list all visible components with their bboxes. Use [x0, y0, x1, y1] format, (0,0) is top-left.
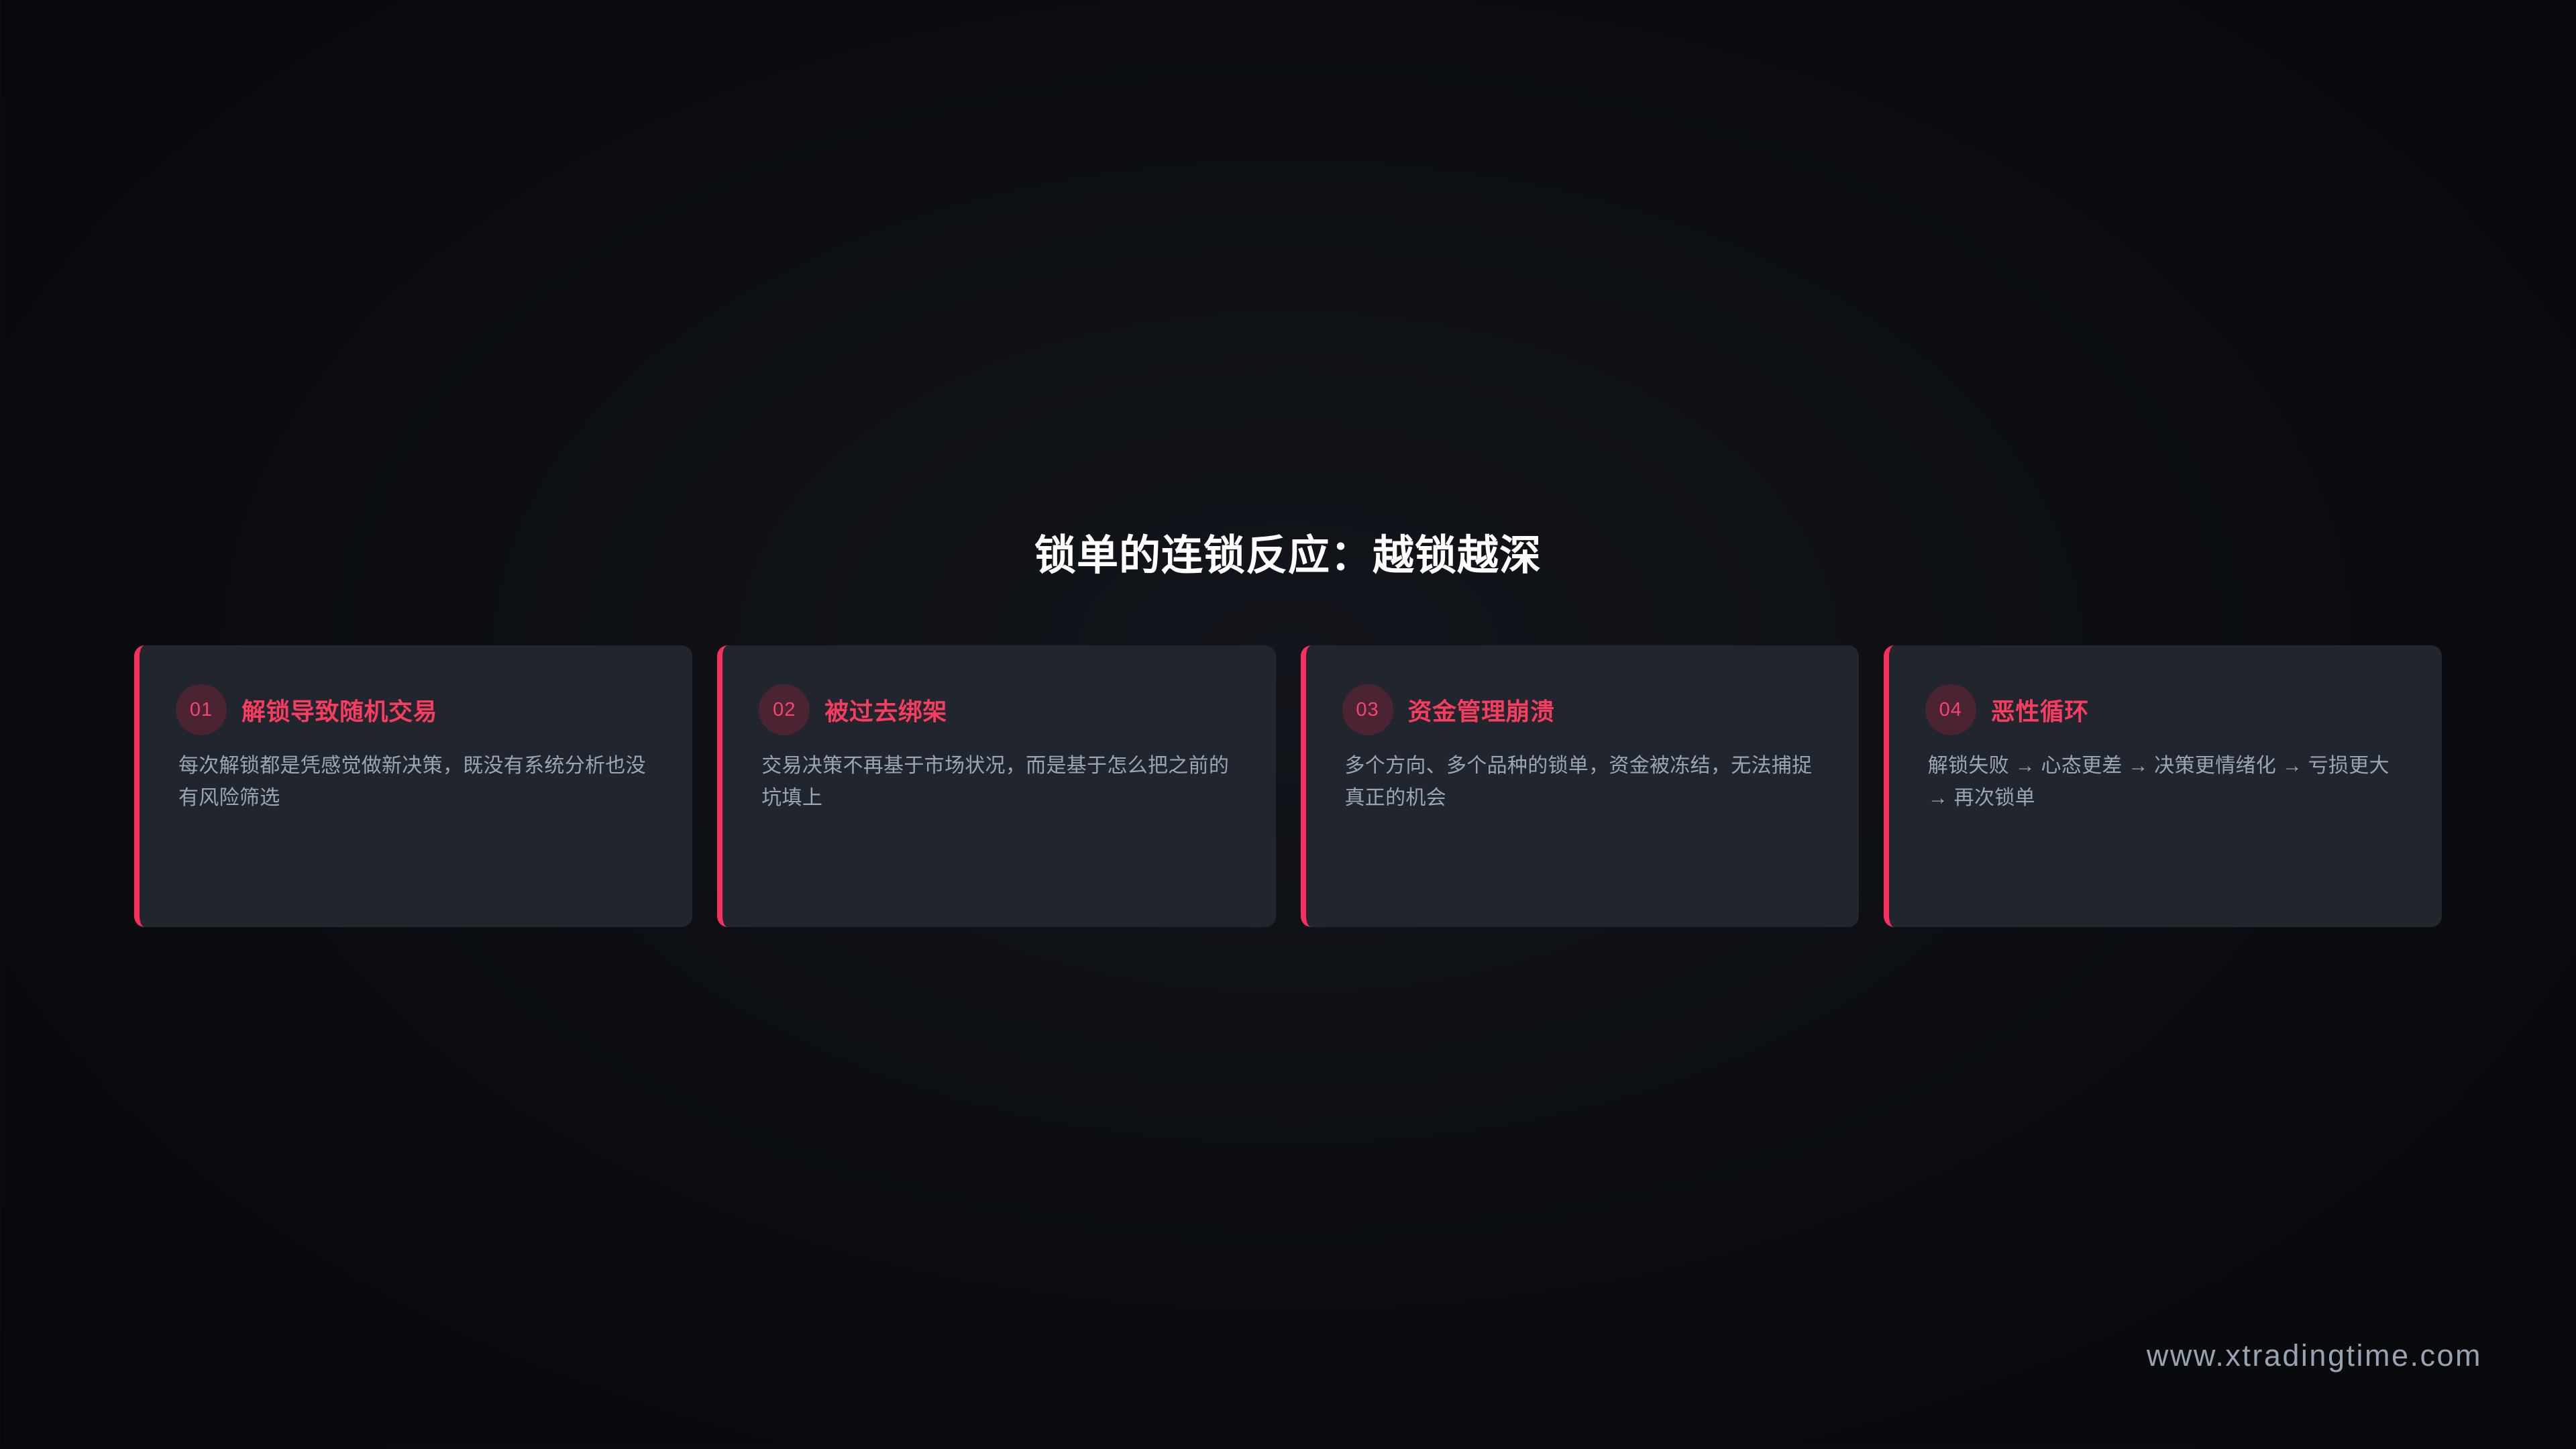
card-list: 01 解锁导致随机交易 每次解锁都是凭感觉做新决策，既没有系统分析也没有风险筛选… [134, 645, 2442, 927]
card-title: 解锁导致随机交易 [241, 692, 437, 727]
slide-canvas: 锁单的连锁反应：越锁越深 01 解锁导致随机交易 每次解锁都是凭感觉做新决策，既… [0, 0, 2576, 1449]
card-item-04: 04 恶性循环 解锁失败 → 心态更差 → 决策更情绪化 → 亏损更大 → 再次… [1884, 645, 2442, 927]
card-header: 04 恶性循环 [1925, 684, 2411, 735]
card-header: 02 被过去绑架 [759, 684, 1244, 735]
site-watermark: www.xtradingtime.com [2147, 1338, 2482, 1373]
card-title: 资金管理崩溃 [1408, 692, 1555, 727]
card-header: 01 解锁导致随机交易 [176, 684, 661, 735]
card-number-badge: 03 [1342, 684, 1393, 735]
card-body-text: 多个方向、多个品种的锁单，资金被冻结，无法捕捉真正的机会 [1342, 750, 1828, 814]
card-body-text: 每次解锁都是凭感觉做新决策，既没有系统分析也没有风险筛选 [176, 750, 661, 814]
card-item-01: 01 解锁导致随机交易 每次解锁都是凭感觉做新决策，既没有系统分析也没有风险筛选 [134, 645, 692, 927]
card-body-text: 交易决策不再基于市场状况，而是基于怎么把之前的坑填上 [759, 750, 1244, 814]
card-body-text: 解锁失败 → 心态更差 → 决策更情绪化 → 亏损更大 → 再次锁单 [1925, 750, 2411, 814]
card-item-02: 02 被过去绑架 交易决策不再基于市场状况，而是基于怎么把之前的坑填上 [717, 645, 1275, 927]
card-number-badge: 01 [176, 684, 227, 735]
card-title: 恶性循环 [1991, 692, 2089, 727]
card-title: 被过去绑架 [824, 692, 947, 727]
card-item-03: 03 资金管理崩溃 多个方向、多个品种的锁单，资金被冻结，无法捕捉真正的机会 [1301, 645, 1859, 927]
page-title: 锁单的连锁反应：越锁越深 [0, 534, 2576, 578]
card-number-badge: 02 [759, 684, 810, 735]
card-header: 03 资金管理崩溃 [1342, 684, 1828, 735]
card-number-badge: 04 [1925, 684, 1976, 735]
